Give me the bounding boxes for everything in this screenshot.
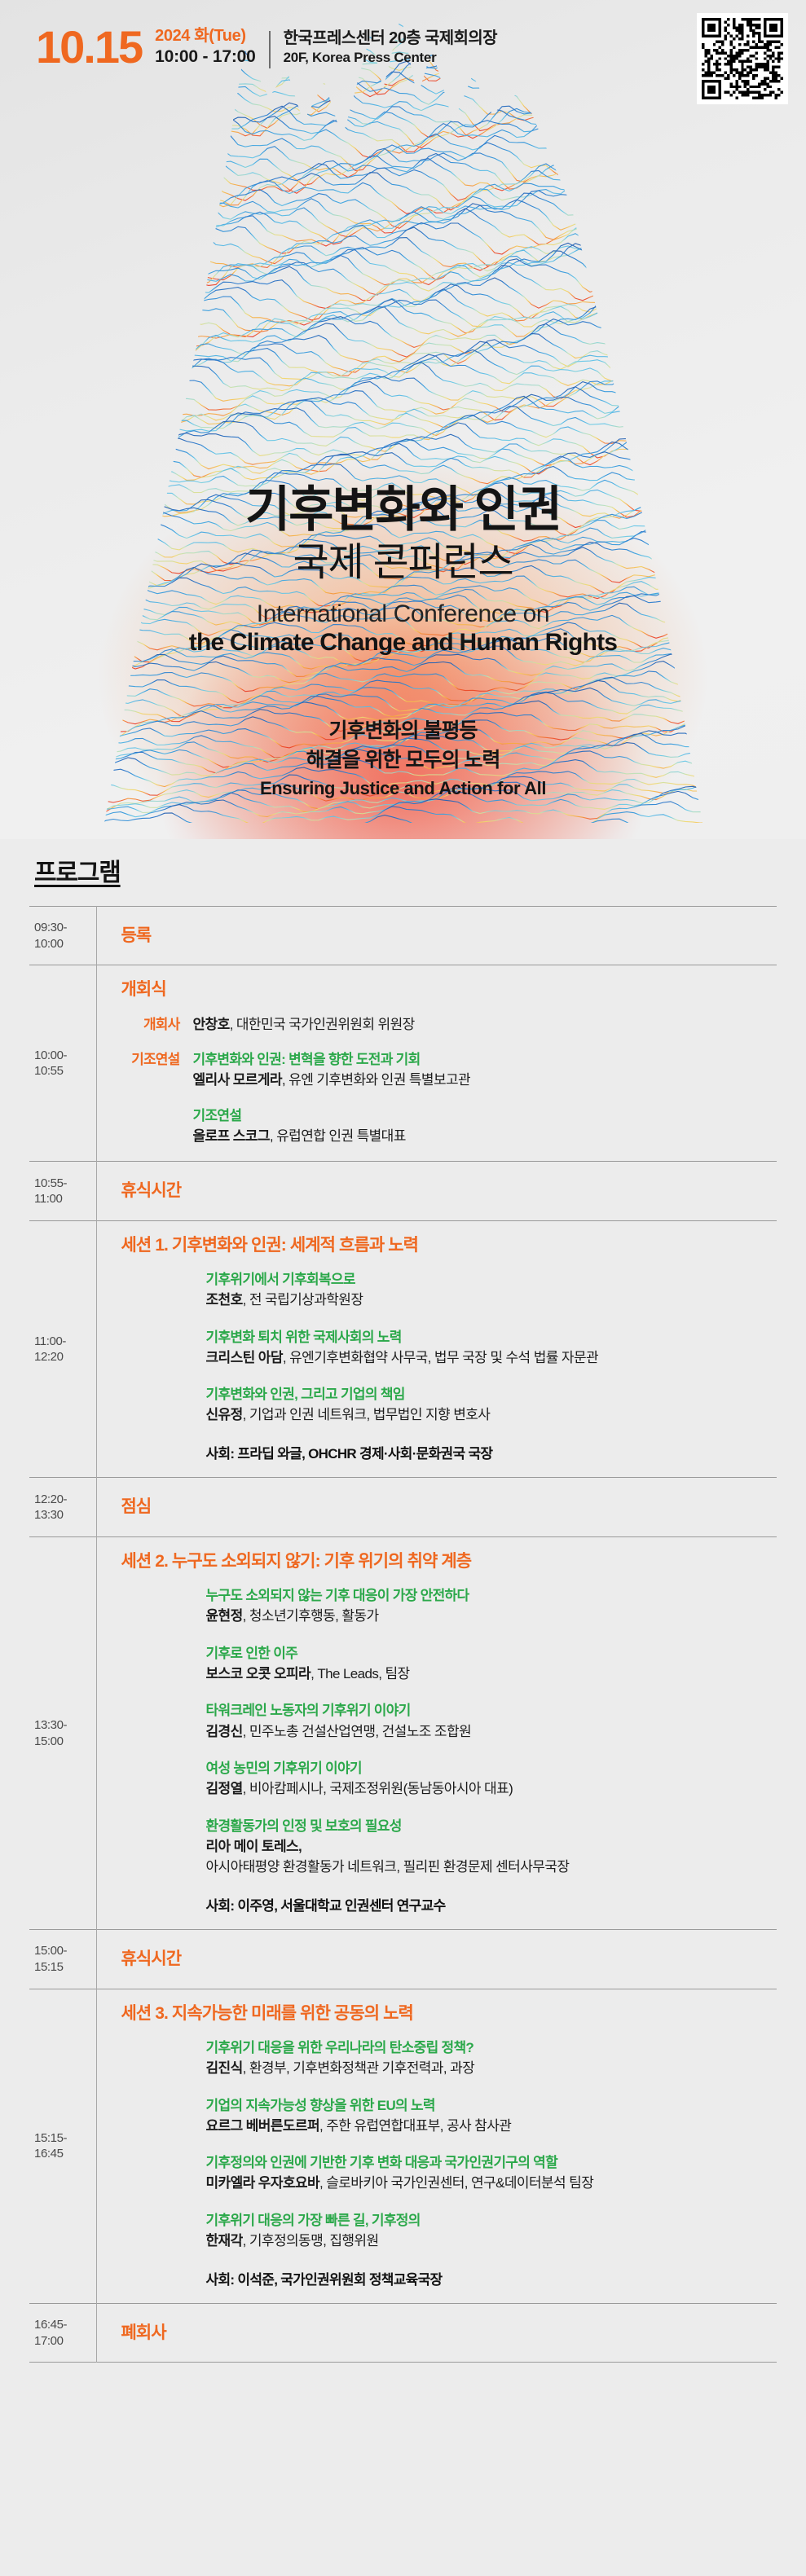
title-english-line2: the Climate Change and Human Rights (0, 629, 806, 657)
block-title: 휴식시간 (121, 1948, 773, 1970)
talk-entry: 타워크레인 노동자의 기후위기 이야기김경신, 민주노총 건설산업연맹, 건설노… (206, 1700, 773, 1742)
schedule-time: 10:55- 11:00 (29, 1162, 96, 1220)
speaker-name: 보스코 오콧 오피라 (206, 1666, 311, 1681)
speaker-name: 김정열 (206, 1781, 243, 1796)
talk-entry: 기후위기 대응의 가장 빠른 길, 기후정의한재각, 기후정의동맹, 집행위원 (206, 2210, 773, 2252)
block-title: 휴식시간 (121, 1180, 773, 1202)
venue-english: 20F, Korea Press Center (284, 49, 497, 67)
schedule-time: 12:20- 13:30 (29, 1478, 96, 1536)
schedule-row: 10:55- 11:00휴식시간 (29, 1162, 777, 1220)
speaker-line: 올로프 스코그, 유럽연합 인권 특별대표 (193, 1126, 773, 1147)
schedule-content: 휴식시간 (96, 1162, 777, 1220)
schedule-time: 13:30- 15:00 (29, 1536, 96, 1930)
speaker-name: 한재각 (206, 2233, 243, 2249)
talk-entry: 누구도 소외되지 않는 기후 대응이 가장 안전하다윤현정, 청소년기후행동, … (206, 1585, 773, 1627)
talk-title: 기후로 인한 이주 (206, 1643, 773, 1664)
session-title: 세션 1. 기후변화와 인권: 세계적 흐름과 노력 (121, 1234, 773, 1256)
item-role-tag: 개회사 (121, 1014, 193, 1035)
header-divider (269, 31, 271, 68)
schedule-row: 09:30- 10:00등록 (29, 907, 777, 965)
venue-korean: 한국프레스센터 20층 국제회의장 (284, 28, 497, 49)
speaker-line: 한재각, 기후정의동맹, 집행위원 (206, 2231, 773, 2252)
title-korean-line1: 기후변화와 인권 (0, 482, 806, 537)
talk-title: 환경활동가의 인정 및 보호의 필요성 (206, 1816, 773, 1836)
moderator-line: 사회: 이석준, 국가인권위원회 정책교육국장 (206, 2270, 773, 2291)
talk-entry: 기후변화 퇴치 위한 국제사회의 노력크리스틴 아담, 유엔기후변화협약 사무국… (206, 1327, 773, 1369)
talk-title: 기조연설 (193, 1106, 773, 1126)
speaker-line: 엘리사 모르게라, 유엔 기후변화와 인권 특별보고관 (193, 1070, 773, 1091)
moderator-line: 사회: 프라딥 와글, OHCHR 경제·사회·문화권국 국장 (206, 1444, 773, 1465)
speaker-name: 조천호 (206, 1292, 243, 1308)
title-korean-line2: 국제 콘퍼런스 (0, 538, 806, 587)
speaker-name: 신유정 (206, 1407, 243, 1422)
talk-title: 기후변화 퇴치 위한 국제사회의 노력 (206, 1327, 773, 1347)
talk-entry: 환경활동가의 인정 및 보호의 필요성리아 메이 토레스,아시아태평양 환경활동… (206, 1816, 773, 1878)
schedule-content: 점심 (96, 1478, 777, 1536)
event-when: 2024 화(Tue) 10:00 - 17:00 (155, 26, 255, 68)
speaker-name: 올로프 스코그 (193, 1128, 270, 1144)
moderator-label: 사회: (206, 1446, 238, 1462)
talk-title: 기후위기 대응을 위한 우리나라의 탄소중립 정책? (206, 2038, 773, 2058)
speaker-line: 신유정, 기업과 인권 네트워크, 법무법인 지향 변호사 (206, 1404, 773, 1426)
talk-list: 기후위기 대응을 위한 우리나라의 탄소중립 정책?김진식, 환경부, 기후변화… (206, 2038, 773, 2290)
event-date: 10.15 (36, 24, 142, 70)
speaker-name: 미카엘라 우자호요바 (206, 2175, 319, 2191)
schedule-row: 15:00- 15:15휴식시간 (29, 1930, 777, 1989)
schedule-time: 15:15- 16:45 (29, 1989, 96, 2303)
speaker-line: 김정열, 비아캄페시나, 국제조정위원(동남동아시아 대표) (206, 1778, 773, 1800)
block-title: 점심 (121, 1496, 773, 1518)
talk-entry: 기후위기 대응을 위한 우리나라의 탄소중립 정책?김진식, 환경부, 기후변화… (206, 2038, 773, 2079)
speaker-line: 윤현정, 청소년기후행동, 활동가 (206, 1606, 773, 1627)
talk-title: 기업의 지속가능성 향상을 위한 EU의 노력 (206, 2095, 773, 2116)
item-role-tag (121, 1106, 193, 1147)
schedule-content: 개회식개회사안창호, 대한민국 국가인권위원회 위원장기조연설기후변화와 인권:… (96, 965, 777, 1162)
schedule-time: 10:00- 10:55 (29, 965, 96, 1162)
item-detail: 기조연설올로프 스코그, 유럽연합 인권 특별대표 (193, 1106, 773, 1147)
schedule-row: 10:00- 10:55개회식개회사안창호, 대한민국 국가인권위원회 위원장기… (29, 965, 777, 1162)
schedule-content: 휴식시간 (96, 1930, 777, 1989)
session-title: 세션 3. 지속가능한 미래를 위한 공동의 노력 (121, 2002, 773, 2024)
schedule-content: 폐회사 (96, 2304, 777, 2363)
schedule-content: 세션 3. 지속가능한 미래를 위한 공동의 노력기후위기 대응을 위한 우리나… (96, 1989, 777, 2303)
subtitle-english: Ensuring Justice and Action for All (0, 778, 806, 799)
speaker-name: 김경신 (206, 1724, 243, 1739)
speaker-name: 리아 메이 토레스, (206, 1839, 302, 1854)
moderator-label: 사회: (206, 2272, 238, 2288)
schedule-time: 15:00- 15:15 (29, 1930, 96, 1989)
speaker-name: 안창호 (193, 1017, 230, 1032)
moderator-line: 사회: 이주영, 서울대학교 인권센터 연구교수 (206, 1896, 773, 1917)
event-year-weekday: 2024 화(Tue) (155, 26, 255, 46)
speaker-line: 요르그 베버른도르퍼, 주한 유럽연합대표부, 공사 참사관 (206, 2116, 773, 2137)
speaker-line: 김경신, 민주노총 건설산업연맹, 건설노조 조합원 (206, 1721, 773, 1743)
talk-title: 기후정의와 인권에 기반한 기후 변화 대응과 국가인권기구의 역할 (206, 2152, 773, 2173)
program-heading: 프로그램 (29, 839, 777, 906)
poster-subtitle: 기후변화의 불평등 해결을 위한 모두의 노력 Ensuring Justice… (0, 717, 806, 799)
block-title: 개회식 (121, 978, 773, 1000)
hero-banner: 10.15 2024 화(Tue) 10:00 - 17:00 한국프레스센터 … (0, 0, 806, 839)
schedule-row: 13:30- 15:00세션 2. 누구도 소외되지 않기: 기후 위기의 취약… (29, 1536, 777, 1930)
speaker-line: 보스코 오콧 오피라, The Leads, 팀장 (206, 1664, 773, 1685)
moderator-label: 사회: (206, 1898, 238, 1914)
item-detail: 기후변화와 인권: 변혁을 향한 도전과 기회엘리사 모르게라, 유엔 기후변화… (193, 1049, 773, 1091)
talk-list: 기후위기에서 기후회복으로조천호, 전 국립기상과학원장기후변화 퇴치 위한 국… (206, 1269, 773, 1464)
talk-entry: 기후정의와 인권에 기반한 기후 변화 대응과 국가인권기구의 역할미카엘라 우… (206, 2152, 773, 2194)
talk-title: 여성 농민의 기후위기 이야기 (206, 1758, 773, 1778)
schedule-row: 16:45- 17:00폐회사 (29, 2304, 777, 2363)
speaker-line: 김진식, 환경부, 기후변화정책관 기후전력과, 과장 (206, 2058, 773, 2079)
block-title: 폐회사 (121, 2322, 773, 2344)
speaker-line: 미카엘라 우자호요바, 슬로바키아 국가인권센터, 연구&데이터분석 팀장 (206, 2173, 773, 2194)
speaker-name: 김진식 (206, 2060, 243, 2076)
subtitle-korean-line1: 기후변화의 불평등 (0, 717, 806, 746)
event-header: 10.15 2024 화(Tue) 10:00 - 17:00 한국프레스센터 … (0, 0, 806, 104)
conference-poster: 10.15 2024 화(Tue) 10:00 - 17:00 한국프레스센터 … (0, 0, 806, 2576)
program-item: 기조연설기후변화와 인권: 변혁을 향한 도전과 기회엘리사 모르게라, 유엔 … (121, 1049, 773, 1091)
talk-entry: 기후로 인한 이주보스코 오콧 오피라, The Leads, 팀장 (206, 1643, 773, 1685)
program-section: 프로그램 09:30- 10:00등록10:00- 10:55개회식개회사안창호… (0, 839, 806, 2400)
schedule-row: 12:20- 13:30점심 (29, 1478, 777, 1536)
talk-title: 기후변화와 인권: 변혁을 향한 도전과 기회 (193, 1049, 773, 1070)
subtitle-korean-line2: 해결을 위한 모두의 노력 (0, 746, 806, 776)
speaker-name: 크리스틴 아담 (206, 1350, 283, 1365)
speaker-name: 윤현정 (206, 1608, 243, 1624)
speaker-line: 크리스틴 아담, 유엔기후변화협약 사무국, 법무 국장 및 수석 법률 자문관 (206, 1347, 773, 1369)
block-title: 등록 (121, 925, 773, 947)
schedule-time: 11:00- 12:20 (29, 1220, 96, 1478)
mountain-wireframe-graphic (0, 0, 806, 839)
event-venue: 한국프레스센터 20층 국제회의장 20F, Korea Press Cente… (284, 28, 497, 67)
event-time-range: 10:00 - 17:00 (155, 46, 255, 68)
speaker-line: 조천호, 전 국립기상과학원장 (206, 1290, 773, 1311)
talk-entry: 기업의 지속가능성 향상을 위한 EU의 노력요르그 베버른도르퍼, 주한 유럽… (206, 2095, 773, 2137)
schedule-table: 09:30- 10:00등록10:00- 10:55개회식개회사안창호, 대한민… (29, 906, 777, 2363)
speaker-line: 안창호, 대한민국 국가인권위원회 위원장 (193, 1014, 773, 1035)
qr-code-icon[interactable] (697, 13, 788, 104)
talk-entry: 기후변화와 인권, 그리고 기업의 책임신유정, 기업과 인권 네트워크, 법무… (206, 1384, 773, 1426)
talk-entry: 여성 농민의 기후위기 이야기김정열, 비아캄페시나, 국제조정위원(동남동아시… (206, 1758, 773, 1800)
schedule-time: 16:45- 17:00 (29, 2304, 96, 2363)
schedule-content: 세션 1. 기후변화와 인권: 세계적 흐름과 노력기후위기에서 기후회복으로조… (96, 1220, 777, 1478)
talk-title: 기후위기 대응의 가장 빠른 길, 기후정의 (206, 2210, 773, 2231)
schedule-content: 등록 (96, 907, 777, 965)
talk-entry: 기후위기에서 기후회복으로조천호, 전 국립기상과학원장 (206, 1269, 773, 1311)
speaker-line: 리아 메이 토레스, (206, 1836, 773, 1857)
speaker-name: 요르그 베버른도르퍼 (206, 2118, 319, 2134)
poster-title: 기후변화와 인권 국제 콘퍼런스 International Conferenc… (0, 482, 806, 657)
session-title: 세션 2. 누구도 소외되지 않기: 기후 위기의 취약 계층 (121, 1550, 773, 1572)
talk-list: 누구도 소외되지 않는 기후 대응이 가장 안전하다윤현정, 청소년기후행동, … (206, 1585, 773, 1916)
schedule-content: 세션 2. 누구도 소외되지 않기: 기후 위기의 취약 계층누구도 소외되지 … (96, 1536, 777, 1930)
talk-title: 기후변화와 인권, 그리고 기업의 책임 (206, 1384, 773, 1404)
program-item: 기조연설올로프 스코그, 유럽연합 인권 특별대표 (121, 1106, 773, 1147)
item-list: 개회사안창호, 대한민국 국가인권위원회 위원장기조연설기후변화와 인권: 변혁… (121, 1014, 773, 1147)
talk-title: 타워크레인 노동자의 기후위기 이야기 (206, 1700, 773, 1721)
item-role-tag: 기조연설 (121, 1049, 193, 1091)
speaker-name: 엘리사 모르게라 (193, 1072, 282, 1088)
item-detail: 안창호, 대한민국 국가인권위원회 위원장 (193, 1014, 773, 1035)
schedule-row: 15:15- 16:45세션 3. 지속가능한 미래를 위한 공동의 노력기후위… (29, 1989, 777, 2303)
schedule-row: 11:00- 12:20세션 1. 기후변화와 인권: 세계적 흐름과 노력기후… (29, 1220, 777, 1478)
talk-title: 기후위기에서 기후회복으로 (206, 1269, 773, 1290)
speaker-affiliation-line: 아시아태평양 환경활동가 네트워크, 필리핀 환경문제 센터사무국장 (206, 1857, 773, 1878)
schedule-time: 09:30- 10:00 (29, 907, 96, 965)
program-item: 개회사안창호, 대한민국 국가인권위원회 위원장 (121, 1014, 773, 1035)
talk-title: 누구도 소외되지 않는 기후 대응이 가장 안전하다 (206, 1585, 773, 1606)
title-english-line1: International Conference on (0, 600, 806, 628)
